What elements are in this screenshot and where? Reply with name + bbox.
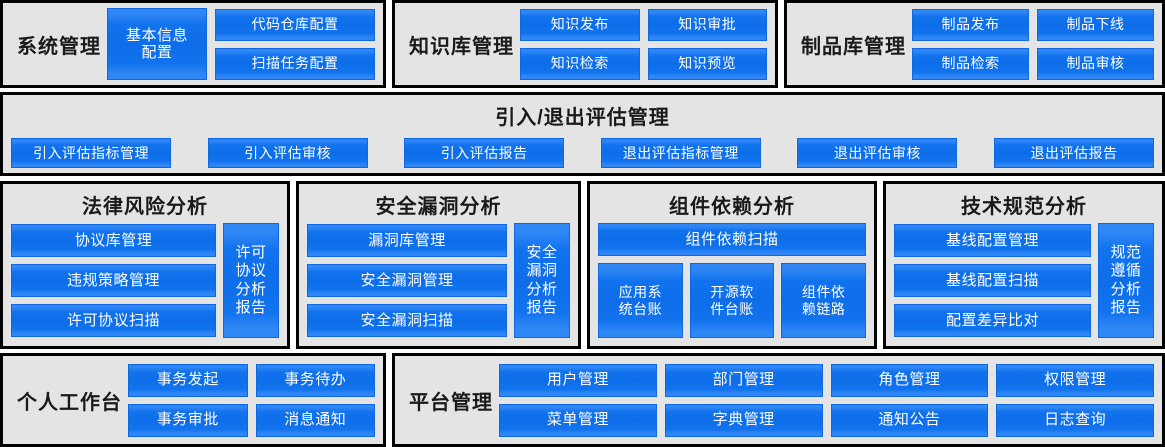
panel-title-knowledge-base-management: 知识库管理 <box>409 30 514 59</box>
platform-management-buttons: 用户管理 菜单管理 部门管理 字典管理 角色管理 通知公告 权限管理 日志查询 <box>493 356 1162 444</box>
button-artifact-publish[interactable]: 制品发布 <box>912 9 1029 41</box>
panel-title-technical-standard-analysis: 技术规范分析 <box>886 190 1162 219</box>
platform-col-1: 用户管理 菜单管理 <box>499 362 657 438</box>
button-artifact-offline[interactable]: 制品下线 <box>1037 9 1154 41</box>
button-baseline-config-scan[interactable]: 基线配置扫描 <box>894 264 1091 297</box>
technical-standard-buttons: 基线配置管理 基线配置扫描 配置差异比对 <box>894 223 1091 338</box>
button-permission-management[interactable]: 权限管理 <box>996 364 1154 397</box>
button-application-system-ledger[interactable]: 应用系 统台账 <box>598 263 683 338</box>
panel-component-dependency-analysis: 组件依赖分析 组件依赖扫描 应用系 统台账 开源软 件台账 组件依 赖链路 <box>587 181 877 349</box>
button-intro-index-management[interactable]: 引入评估指标管理 <box>11 138 171 168</box>
button-dictionary-management[interactable]: 字典管理 <box>665 404 823 437</box>
button-exit-index-management[interactable]: 退出评估指标管理 <box>601 138 761 168</box>
button-task-initiate[interactable]: 事务发起 <box>128 364 248 397</box>
button-basic-info-config[interactable]: 基本信息 配置 <box>107 8 207 80</box>
panel-knowledge-base-management: 知识库管理 知识发布 知识检索 知识审批 知识预览 <box>392 0 778 88</box>
button-open-source-software-ledger[interactable]: 开源软 件台账 <box>690 263 775 338</box>
button-message-notification[interactable]: 消息通知 <box>256 404 376 437</box>
button-intro-assessment-report[interactable]: 引入评估报告 <box>404 138 564 168</box>
platform-col-4: 权限管理 日志查询 <box>996 362 1154 438</box>
panel-title-artifact-repo-management: 制品库管理 <box>801 30 906 59</box>
button-security-vulnerability-scan[interactable]: 安全漏洞扫描 <box>307 304 507 337</box>
platform-col-2: 部门管理 字典管理 <box>665 362 823 438</box>
panel-intro-exit-assessment: 引入/退出评估管理 引入评估指标管理 引入评估审核 引入评估报告 退出评估指标管… <box>0 92 1165 176</box>
panel-title-platform-management: 平台管理 <box>409 386 493 415</box>
button-knowledge-approval[interactable]: 知识审批 <box>648 9 768 41</box>
button-knowledge-preview[interactable]: 知识预览 <box>648 48 768 80</box>
knowledge-col-2: 知识审批 知识预览 <box>648 8 768 80</box>
component-dependency-body: 组件依赖扫描 应用系 统台账 开源软 件台账 组件依 赖链路 <box>590 219 874 346</box>
button-license-agreement-scan[interactable]: 许可协议扫描 <box>11 304 216 337</box>
artifact-col-2: 制品下线 制品审核 <box>1037 8 1154 80</box>
button-artifact-audit[interactable]: 制品审核 <box>1037 48 1154 80</box>
button-license-analysis-report[interactable]: 许可 协议 分析 报告 <box>223 223 279 338</box>
button-artifact-search[interactable]: 制品检索 <box>912 48 1029 80</box>
button-menu-management[interactable]: 菜单管理 <box>499 404 657 437</box>
button-baseline-config-management[interactable]: 基线配置管理 <box>894 224 1091 257</box>
module-map-board: 系统管理 基本信息 配置 代码仓库配置 扫描任务配置 知识库管理 知识发布 知识… <box>0 0 1165 447</box>
button-announcement[interactable]: 通知公告 <box>831 404 989 437</box>
panel-title-intro-exit-assessment: 引入/退出评估管理 <box>3 95 1162 130</box>
component-dependency-subrow: 应用系 统台账 开源软 件台账 组件依 赖链路 <box>598 263 866 338</box>
panel-title-legal-risk-analysis: 法律风险分析 <box>3 190 287 219</box>
button-knowledge-publish[interactable]: 知识发布 <box>520 9 640 41</box>
button-log-query[interactable]: 日志查询 <box>996 404 1154 437</box>
component-dependency-buttons: 组件依赖扫描 应用系 统台账 开源软 件台账 组件依 赖链路 <box>598 223 866 338</box>
panel-platform-management: 平台管理 用户管理 菜单管理 部门管理 字典管理 角色管理 通知公告 权限管理 … <box>392 353 1165 447</box>
legal-risk-body: 协议库管理 违规策略管理 许可协议扫描 许可 协议 分析 报告 <box>3 219 287 346</box>
artifact-col-1: 制品发布 制品检索 <box>912 8 1029 80</box>
button-department-management[interactable]: 部门管理 <box>665 364 823 397</box>
button-user-management[interactable]: 用户管理 <box>499 364 657 397</box>
button-license-library-management[interactable]: 协议库管理 <box>11 224 216 257</box>
button-task-todo[interactable]: 事务待办 <box>256 364 376 397</box>
panel-title-component-dependency-analysis: 组件依赖分析 <box>590 190 874 219</box>
technical-standard-body: 基线配置管理 基线配置扫描 配置差异比对 规范 遵循 分析 报告 <box>886 219 1162 346</box>
legal-risk-report-wrap: 许可 协议 分析 报告 <box>223 223 279 338</box>
button-exit-assessment-report[interactable]: 退出评估报告 <box>994 138 1154 168</box>
button-intro-assessment-audit[interactable]: 引入评估审核 <box>208 138 368 168</box>
intro-exit-assessment-buttons: 引入评估指标管理 引入评估审核 引入评估报告 退出评估指标管理 退出评估审核 退… <box>3 130 1162 168</box>
button-task-approval[interactable]: 事务审批 <box>128 404 248 437</box>
panel-technical-standard-analysis: 技术规范分析 基线配置管理 基线配置扫描 配置差异比对 规范 遵循 分析 报告 <box>883 181 1165 349</box>
button-vulnerability-library-management[interactable]: 漏洞库管理 <box>307 224 507 257</box>
technical-standard-report-wrap: 规范 遵循 分析 报告 <box>1098 223 1154 338</box>
security-vuln-report-wrap: 安全 漏洞 分析 报告 <box>514 223 570 338</box>
knowledge-col-1: 知识发布 知识检索 <box>520 8 640 80</box>
button-component-dependency-scan[interactable]: 组件依赖扫描 <box>598 223 866 256</box>
button-code-repo-config[interactable]: 代码仓库配置 <box>215 9 375 41</box>
knowledge-base-buttons: 知识发布 知识检索 知识审批 知识预览 <box>514 3 775 85</box>
security-vuln-body: 漏洞库管理 安全漏洞管理 安全漏洞扫描 安全 漏洞 分析 报告 <box>299 219 578 346</box>
button-standard-compliance-analysis-report[interactable]: 规范 遵循 分析 报告 <box>1098 223 1154 338</box>
panel-security-vulnerability-analysis: 安全漏洞分析 漏洞库管理 安全漏洞管理 安全漏洞扫描 安全 漏洞 分析 报告 <box>296 181 581 349</box>
button-config-difference-comparison[interactable]: 配置差异比对 <box>894 304 1091 337</box>
workbench-col-2: 事务待办 消息通知 <box>256 362 376 438</box>
button-role-management[interactable]: 角色管理 <box>831 364 989 397</box>
artifact-repo-buttons: 制品发布 制品检索 制品下线 制品审核 <box>906 3 1162 85</box>
personal-workbench-buttons: 事务发起 事务审批 事务待办 消息通知 <box>122 356 383 444</box>
panel-legal-risk-analysis: 法律风险分析 协议库管理 违规策略管理 许可协议扫描 许可 协议 分析 报告 <box>0 181 290 349</box>
panel-system-management: 系统管理 基本信息 配置 代码仓库配置 扫描任务配置 <box>0 0 386 88</box>
platform-col-3: 角色管理 通知公告 <box>831 362 989 438</box>
button-exit-assessment-audit[interactable]: 退出评估审核 <box>797 138 957 168</box>
button-scan-task-config[interactable]: 扫描任务配置 <box>215 48 375 80</box>
panel-title-system-management: 系统管理 <box>17 30 101 59</box>
button-security-vulnerability-management[interactable]: 安全漏洞管理 <box>307 264 507 297</box>
button-knowledge-search[interactable]: 知识检索 <box>520 48 640 80</box>
panel-personal-workbench: 个人工作台 事务发起 事务审批 事务待办 消息通知 <box>0 353 386 447</box>
system-management-stack: 代码仓库配置 扫描任务配置 <box>215 8 375 80</box>
system-management-buttons: 基本信息 配置 代码仓库配置 扫描任务配置 <box>101 3 383 85</box>
button-violation-policy-management[interactable]: 违规策略管理 <box>11 264 216 297</box>
button-component-dependency-chain[interactable]: 组件依 赖链路 <box>781 263 866 338</box>
legal-risk-buttons: 协议库管理 违规策略管理 许可协议扫描 <box>11 223 216 338</box>
panel-artifact-repo-management: 制品库管理 制品发布 制品检索 制品下线 制品审核 <box>784 0 1165 88</box>
button-security-vulnerability-analysis-report[interactable]: 安全 漏洞 分析 报告 <box>514 223 570 338</box>
panel-title-personal-workbench: 个人工作台 <box>17 386 122 415</box>
security-vuln-buttons: 漏洞库管理 安全漏洞管理 安全漏洞扫描 <box>307 223 507 338</box>
panel-title-security-vulnerability-analysis: 安全漏洞分析 <box>299 190 578 219</box>
workbench-col-1: 事务发起 事务审批 <box>128 362 248 438</box>
